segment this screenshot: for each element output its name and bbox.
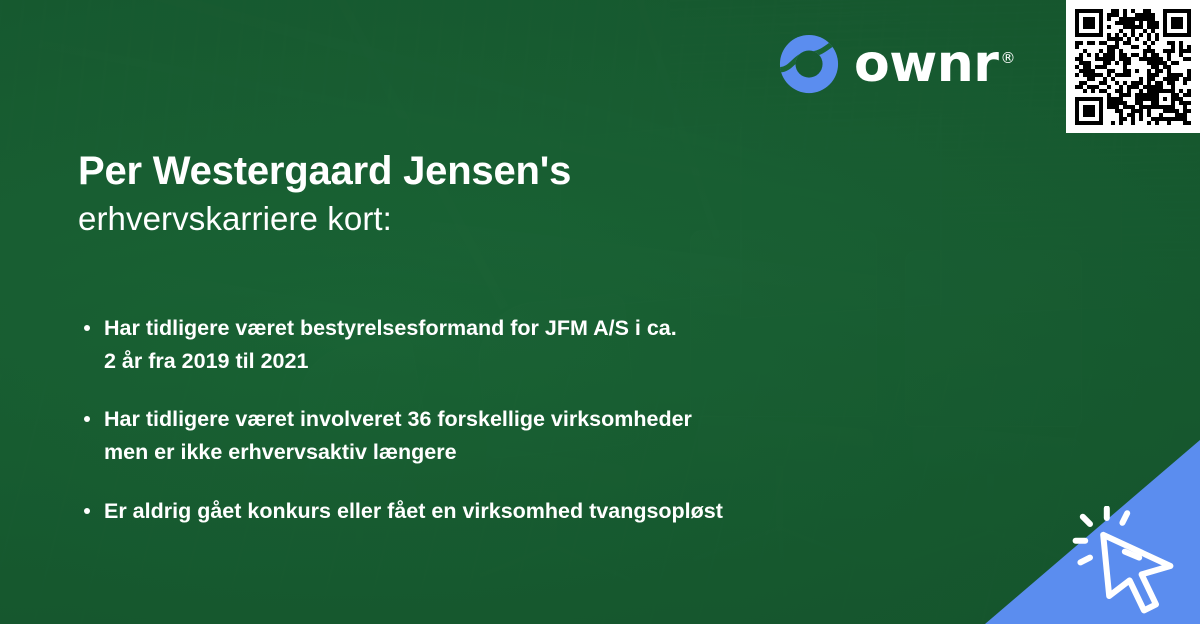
business-card-banner: ownr® Per Westergaard Jensen's erhvervsk… xyxy=(0,0,1200,624)
list-item-line-2: men er ikke erhvervsaktiv længere xyxy=(104,436,1008,469)
headline-block: Per Westergaard Jensen's erhvervskarrier… xyxy=(78,148,978,239)
career-facts-list: Har tidligere været bestyrelsesformand f… xyxy=(78,312,1008,527)
list-item-line-1: Har tidligere været bestyrelsesformand f… xyxy=(104,316,677,340)
ownr-logo[interactable]: ownr® xyxy=(778,33,1015,95)
ownr-wordmark-text: ownr xyxy=(854,34,998,94)
list-item-line-2: 2 år fra 2019 til 2021 xyxy=(104,345,1008,378)
bullet-dot-icon xyxy=(84,325,90,331)
bullet-dot-icon xyxy=(84,416,90,422)
qr-code-image xyxy=(1075,9,1191,125)
ownr-circle-logo-icon xyxy=(778,33,840,95)
registered-trademark-symbol: ® xyxy=(1000,49,1015,67)
list-item: Er aldrig gået konkurs eller fået en vir… xyxy=(78,495,1008,528)
list-item-line-1: Har tidligere været involveret 36 forske… xyxy=(104,407,692,431)
ownr-wordmark: ownr® xyxy=(854,38,1015,90)
page-subtitle: erhvervskarriere kort: xyxy=(78,199,978,239)
bullet-dot-icon xyxy=(84,508,90,514)
list-item-line-1: Er aldrig gået konkurs eller fået en vir… xyxy=(104,499,723,523)
list-item: Har tidligere været involveret 36 forske… xyxy=(78,403,1008,468)
list-item: Har tidligere været bestyrelsesformand f… xyxy=(78,312,1008,377)
page-title: Per Westergaard Jensen's xyxy=(78,148,978,195)
qr-code[interactable] xyxy=(1066,0,1200,133)
